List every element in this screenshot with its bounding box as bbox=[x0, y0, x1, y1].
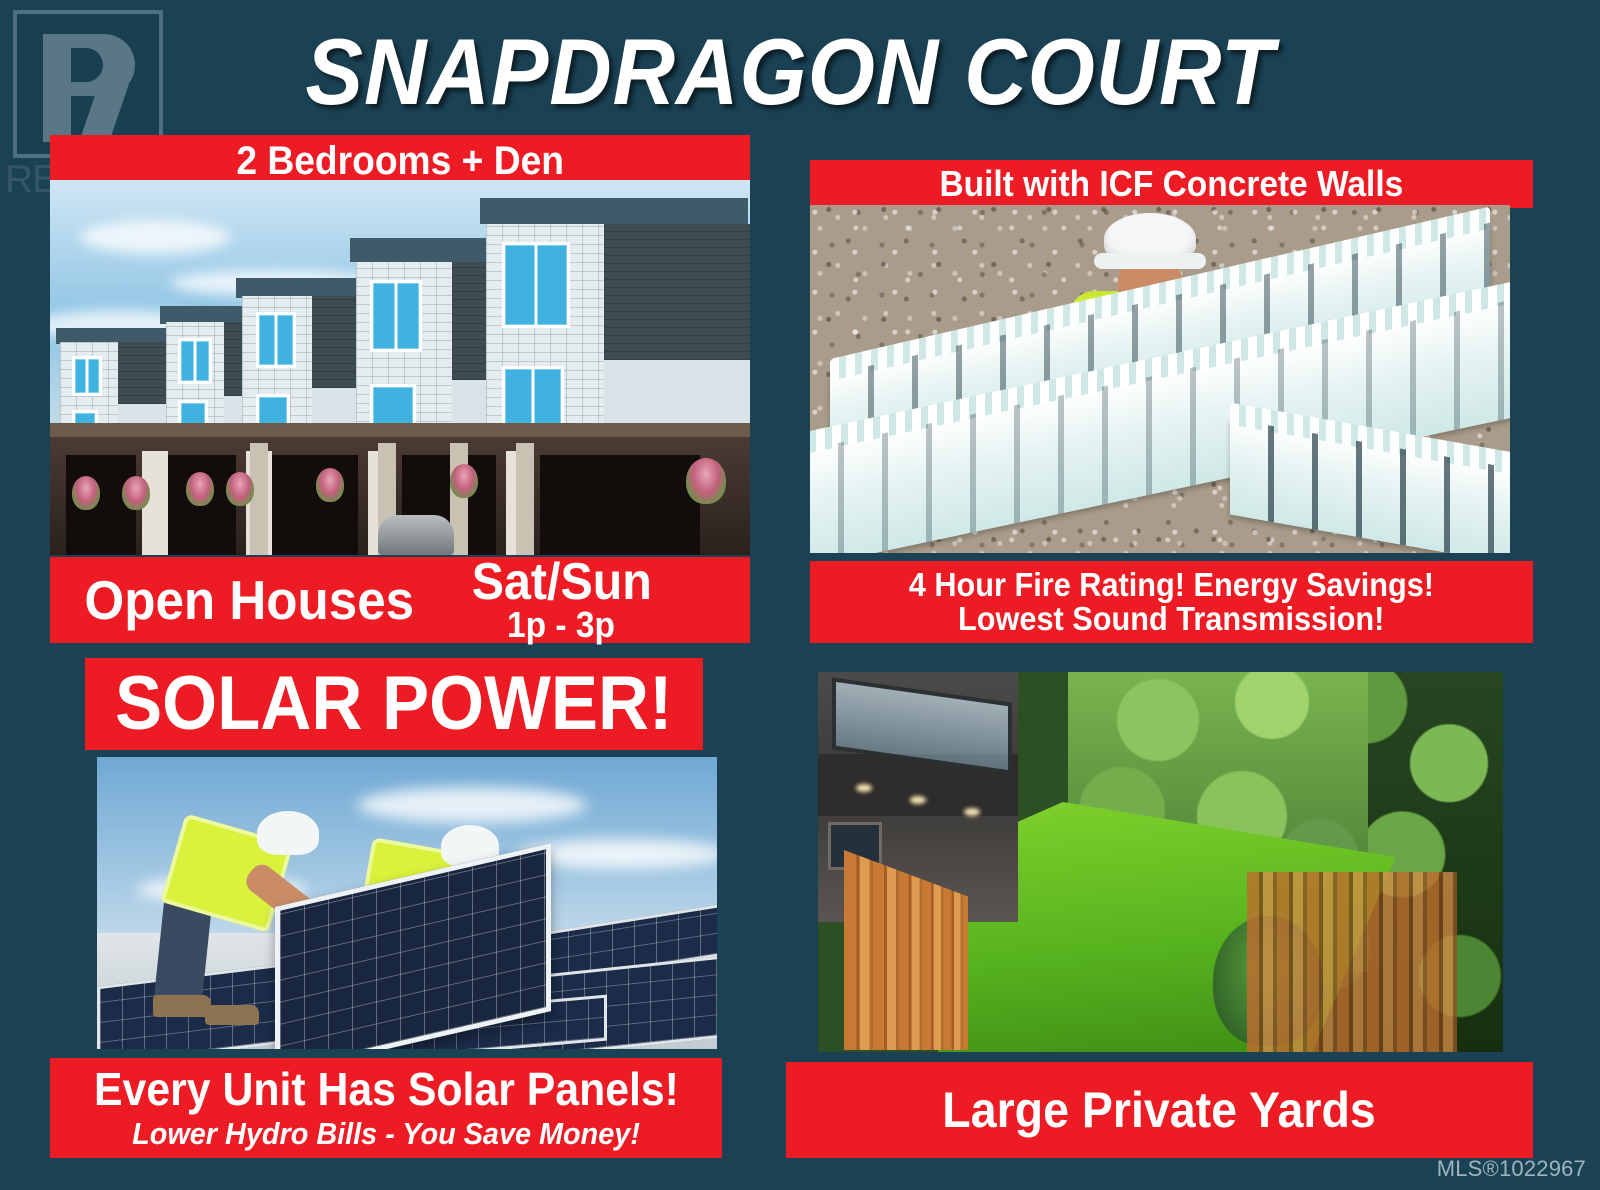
bedrooms-headline-text: 2 Bedrooms + Den bbox=[236, 141, 564, 182]
banner-solar-power: SOLAR POWER! bbox=[85, 658, 703, 750]
private-yards-caption: Large Private Yards bbox=[943, 1085, 1376, 1136]
icf-feature-line-1: 4 Hour Fire Rating! Energy Savings! bbox=[909, 568, 1434, 602]
mls-number: MLS®1022967 bbox=[1437, 1156, 1586, 1182]
solar-caption-line-1: Every Unit Has Solar Panels! bbox=[94, 1066, 679, 1113]
photo-private-yard bbox=[818, 672, 1503, 1052]
photo-townhouse-exterior bbox=[50, 180, 750, 555]
photo-icf-installation bbox=[810, 205, 1510, 553]
banner-open-houses: Open Houses Sat/Sun 1p - 3p bbox=[50, 557, 750, 643]
icf-feature-line-2: Lowest Sound Transmission! bbox=[958, 602, 1384, 636]
banner-solar-caption: Every Unit Has Solar Panels! Lower Hydro… bbox=[50, 1058, 722, 1158]
open-house-time: 1p - 3p bbox=[507, 608, 615, 642]
photo-solar-installation bbox=[97, 757, 717, 1049]
banner-icf-headline: Built with ICF Concrete Walls bbox=[810, 160, 1533, 208]
real-estate-flyer: SNAPDRAGON COURT REALTOR® 2 Bedrooms + D… bbox=[0, 0, 1600, 1190]
solar-caption-line-2: Lower Hydro Bills - You Save Money! bbox=[132, 1118, 640, 1150]
icf-headline-text: Built with ICF Concrete Walls bbox=[940, 166, 1404, 203]
open-house-days: Sat/Sun bbox=[471, 558, 651, 607]
page-title: SNAPDRAGON COURT bbox=[247, 18, 1333, 126]
solar-power-headline: SOLAR POWER! bbox=[115, 665, 673, 743]
banner-icf-features: 4 Hour Fire Rating! Energy Savings! Lowe… bbox=[810, 561, 1533, 643]
banner-private-yards: Large Private Yards bbox=[786, 1062, 1533, 1158]
open-houses-label: Open Houses bbox=[84, 572, 414, 628]
